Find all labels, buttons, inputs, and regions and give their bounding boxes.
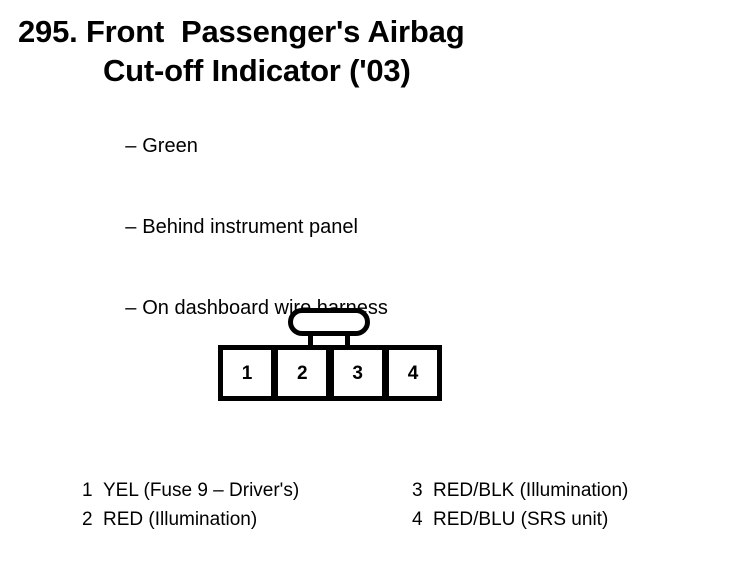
pin-legend-row: 4 RED/BLU (SRS unit) xyxy=(412,505,722,534)
list-item: –Green xyxy=(103,106,388,187)
page-title: 295. Front Passenger's Airbag Cut-off In… xyxy=(18,12,718,90)
dash-bullet-icon: – xyxy=(125,133,142,160)
connector-cavity: 3 xyxy=(334,350,382,396)
pin-number: 4 xyxy=(412,505,433,534)
pin-legend: 1 YEL (Fuse 9 – Driver's) 2 RED (Illumin… xyxy=(82,476,722,534)
pin-legend-row: 3 RED/BLK (Illumination) xyxy=(412,476,722,505)
pin-number: 1 xyxy=(82,476,103,505)
pin-description: RED/BLU (SRS unit) xyxy=(433,505,608,534)
connector-body: 1 2 3 4 xyxy=(218,345,442,401)
connector-diagram: 1 2 3 4 xyxy=(218,308,442,401)
pin-number: 2 xyxy=(82,505,103,534)
connector-cavity: 2 xyxy=(278,350,326,396)
pin-legend-row: 1 YEL (Fuse 9 – Driver's) xyxy=(82,476,412,505)
list-item-label: Green xyxy=(142,135,198,157)
page-title-line-1: 295. Front Passenger's Airbag xyxy=(18,12,718,51)
connector-cavity: 4 xyxy=(389,350,437,396)
connector-locking-tab-icon xyxy=(288,308,370,336)
pin-legend-row: 2 RED (Illumination) xyxy=(82,505,412,534)
connector-cavity: 1 xyxy=(223,350,271,396)
pin-number: 3 xyxy=(412,476,433,505)
list-item: –Behind instrument panel xyxy=(103,187,388,268)
pin-description: RED (Illumination) xyxy=(103,505,257,534)
pin-legend-column-left: 1 YEL (Fuse 9 – Driver's) 2 RED (Illumin… xyxy=(82,476,412,534)
dash-bullet-icon: – xyxy=(125,295,142,322)
pin-description: YEL (Fuse 9 – Driver's) xyxy=(103,476,299,505)
page-title-line-2: Cut-off Indicator ('03) xyxy=(18,51,718,90)
dash-bullet-icon: – xyxy=(125,214,142,241)
list-item-label: Behind instrument panel xyxy=(142,216,358,238)
pin-description: RED/BLK (Illumination) xyxy=(433,476,628,505)
pin-legend-column-right: 3 RED/BLK (Illumination) 4 RED/BLU (SRS … xyxy=(412,476,722,534)
